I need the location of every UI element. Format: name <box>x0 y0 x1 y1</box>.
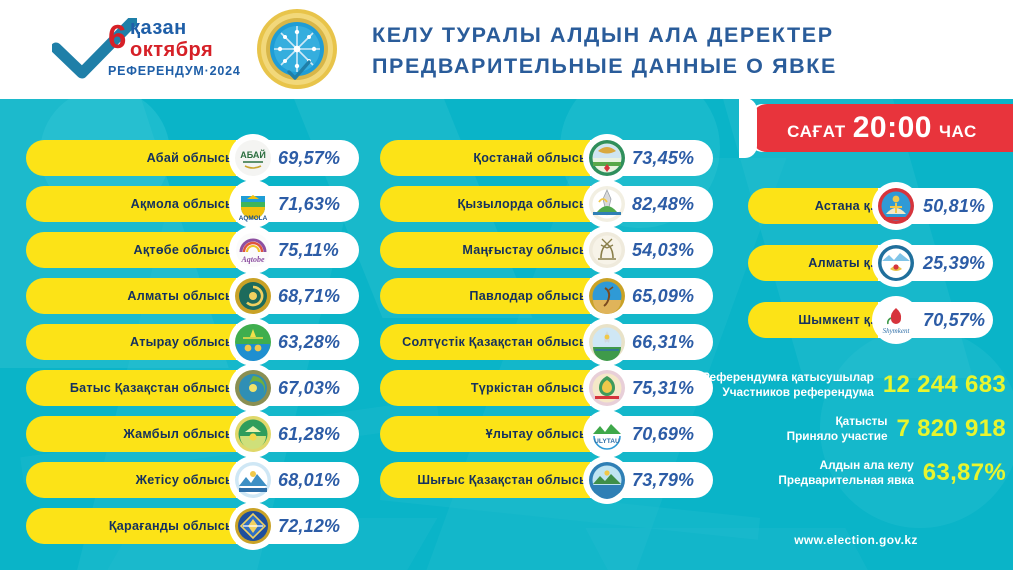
summary-row-voters: Референдумға қатысушылар Участников рефе… <box>706 370 1006 400</box>
title-russian: ПРЕДВАРИТЕЛЬНЫЕ ДАННЫЕ О ЯВКЕ <box>372 51 932 82</box>
region-turnout: 70,69% <box>632 416 694 452</box>
cec-seal-icon <box>256 8 338 90</box>
pavlodar-region-emblem <box>585 274 629 318</box>
region-row[interactable]: Жетісу облысы 68,01% <box>26 462 359 498</box>
regions-column-middle: Қостанай облысы 73,45% Қызылорда облысы … <box>380 140 713 508</box>
svg-text:Shymkent: Shymkent <box>883 327 911 335</box>
city-name: Алматы қ. <box>754 245 874 281</box>
kyzylorda-region-emblem <box>585 182 629 226</box>
region-turnout: 54,03% <box>632 232 694 268</box>
city-row[interactable]: Алматы қ. 25,39% <box>748 245 993 281</box>
summary-label-ru: Приняло участие <box>787 429 888 444</box>
region-row[interactable]: Ұлытау облысы ULYTAU 70,69% <box>380 416 713 452</box>
west-kazakhstan-region-emblem <box>231 366 275 410</box>
region-row[interactable]: Қостанай облысы 73,45% <box>380 140 713 176</box>
region-row[interactable]: Қарағанды облысы 72,12% <box>26 508 359 544</box>
region-turnout: 61,28% <box>278 416 340 452</box>
region-turnout: 69,57% <box>278 140 340 176</box>
region-name: Жетісу облысы <box>34 462 236 498</box>
region-row[interactable]: Ақтөбе облысы Aqtobe 75,11% <box>26 232 359 268</box>
city-name: Шымкент қ. <box>754 302 874 338</box>
aktobe-region-emblem: Aqtobe <box>231 228 275 272</box>
almaty-city-emblem <box>874 241 918 285</box>
summary-stats: Референдумға қатысушылар Участников рефе… <box>706 370 1006 502</box>
referendum-logo-text: 6 қазан октября РЕФЕРЕНДУМ·2024 <box>108 14 248 86</box>
summary-label-kk: Референдумға қатысушылар <box>702 370 874 385</box>
region-row[interactable]: Шығыс Қазақстан облысы 73,79% <box>380 462 713 498</box>
region-name: Абай облысы <box>34 140 236 176</box>
region-row[interactable]: Ақмола облысы AQMOLA 71,63% <box>26 186 359 222</box>
mangystau-region-emblem <box>585 228 629 272</box>
website-url[interactable]: www.election.gov.kz <box>706 533 1006 547</box>
summary-row-participated: Қатысты Приняло участие 7 820 918 <box>706 414 1006 444</box>
astana-city-emblem <box>874 184 918 228</box>
header-bar: 6 қазан октября РЕФЕРЕНДУМ·2024 <box>0 0 1013 99</box>
region-turnout: 68,71% <box>278 278 340 314</box>
region-name: Батыс Қазақстан облысы <box>34 370 236 406</box>
abai-region-emblem: АБАЙ <box>231 136 275 180</box>
region-turnout: 66,31% <box>632 324 694 360</box>
summary-label-kk: Алдын ала келу <box>778 458 913 473</box>
summary-label-kk: Қатысты <box>787 414 888 429</box>
summary-value: 12 244 683 <box>883 371 1006 399</box>
svg-text:Aqtobe: Aqtobe <box>240 255 265 264</box>
city-turnout: 50,81% <box>923 188 985 224</box>
region-row[interactable]: Абай облысы АБАЙ 69,57% <box>26 140 359 176</box>
region-name: Маңғыстау облысы <box>388 232 590 268</box>
time-value: 20:00 <box>853 111 932 145</box>
region-name: Алматы облысы <box>34 278 236 314</box>
region-row[interactable]: Маңғыстау облысы 54,03% <box>380 232 713 268</box>
city-name: Астана қ. <box>754 188 874 224</box>
summary-label-ru: Участников референдума <box>702 385 874 400</box>
region-row[interactable]: Түркістан облысы 75,31% <box>380 370 713 406</box>
logo-month-ru: октября <box>130 40 213 60</box>
svg-text:АБАЙ: АБАЙ <box>240 149 266 160</box>
summary-value: 63,87% <box>923 459 1006 487</box>
city-turnout: 25,39% <box>923 245 985 281</box>
infographic-root: 6 қазан октября РЕФЕРЕНДУМ·2024 <box>0 0 1013 570</box>
cities-column: Астана қ. 50,81% Алматы қ. 25,39% Шымкен… <box>748 188 993 348</box>
region-name: Қызылорда облысы <box>388 186 590 222</box>
region-name: Солтүстік Қазақстан облысы <box>388 324 590 360</box>
ulytau-region-emblem: ULYTAU <box>585 412 629 456</box>
region-row[interactable]: Жамбыл облысы 61,28% <box>26 416 359 452</box>
region-row[interactable]: Атырау облысы 63,28% <box>26 324 359 360</box>
logo-date-number: 6 <box>108 20 126 53</box>
region-name: Ұлытау облысы <box>388 416 590 452</box>
region-turnout: 67,03% <box>278 370 340 406</box>
region-row[interactable]: Алматы облысы 68,71% <box>26 278 359 314</box>
karaganda-region-emblem <box>231 504 275 548</box>
east-kazakhstan-region-emblem <box>585 458 629 502</box>
region-name: Қостанай облысы <box>388 140 590 176</box>
region-name: Ақтөбе облысы <box>34 232 236 268</box>
summary-row-turnout: Алдын ала келу Предварительная явка 63,8… <box>706 458 1006 488</box>
region-name: Ақмола облысы <box>34 186 236 222</box>
page-title: КЕЛУ ТУРАЛЫ АЛДЫН АЛА ДЕРЕКТЕР ПРЕДВАРИТ… <box>372 20 932 82</box>
region-turnout: 82,48% <box>632 186 694 222</box>
time-suffix-label: ЧАС <box>939 122 977 142</box>
zhambyl-region-emblem <box>231 412 275 456</box>
region-row[interactable]: Павлодар облысы 65,09% <box>380 278 713 314</box>
region-turnout: 63,28% <box>278 324 340 360</box>
north-kazakhstan-region-emblem <box>585 320 629 364</box>
summary-label-ru: Предварительная явка <box>778 473 913 488</box>
time-prefix-label: САҒАТ <box>787 122 846 142</box>
zhetysu-region-emblem <box>231 458 275 502</box>
regions-column-left: Абай облысы АБАЙ 69,57% Ақмола облысы AQ… <box>26 140 359 554</box>
city-row[interactable]: Астана қ. 50,81% <box>748 188 993 224</box>
region-row[interactable]: Батыс Қазақстан облысы 67,03% <box>26 370 359 406</box>
region-name: Қарағанды облысы <box>34 508 236 544</box>
region-turnout: 75,31% <box>632 370 694 406</box>
title-kazakh: КЕЛУ ТУРАЛЫ АЛДЫН АЛА ДЕРЕКТЕР <box>372 20 932 51</box>
kostanay-region-emblem <box>585 136 629 180</box>
logo-subtitle: РЕФЕРЕНДУМ·2024 <box>108 65 241 78</box>
region-row[interactable]: Қызылорда облысы 82,48% <box>380 186 713 222</box>
svg-text:AQMOLA: AQMOLA <box>239 215 268 222</box>
region-turnout: 68,01% <box>278 462 340 498</box>
region-turnout: 71,63% <box>278 186 340 222</box>
region-name: Түркістан облысы <box>388 370 590 406</box>
akmola-region-emblem: AQMOLA <box>231 182 275 226</box>
svg-text:ULYTAU: ULYTAU <box>594 438 620 445</box>
almaty-region-emblem <box>231 274 275 318</box>
time-banner: САҒАТ 20:00 ЧАС <box>751 104 1013 152</box>
footer: www.election.gov.kz <box>706 533 1006 547</box>
city-turnout: 70,57% <box>923 302 985 338</box>
logo-month-kk: қазан <box>130 18 187 38</box>
region-turnout: 73,79% <box>632 462 694 498</box>
region-name: Шығыс Қазақстан облысы <box>388 462 590 498</box>
city-row[interactable]: Шымкент қ. Shymkent 70,57% <box>748 302 993 338</box>
region-row[interactable]: Солтүстік Қазақстан облысы 66,31% <box>380 324 713 360</box>
region-turnout: 73,45% <box>632 140 694 176</box>
region-name: Павлодар облысы <box>388 278 590 314</box>
region-name: Жамбыл облысы <box>34 416 236 452</box>
region-name: Атырау облысы <box>34 324 236 360</box>
shymkent-city-emblem: Shymkent <box>874 298 918 342</box>
region-turnout: 75,11% <box>278 232 339 268</box>
region-turnout: 72,12% <box>278 508 340 544</box>
turkistan-region-emblem <box>585 366 629 410</box>
region-turnout: 65,09% <box>632 278 694 314</box>
atyrau-region-emblem <box>231 320 275 364</box>
summary-value: 7 820 918 <box>897 415 1006 443</box>
